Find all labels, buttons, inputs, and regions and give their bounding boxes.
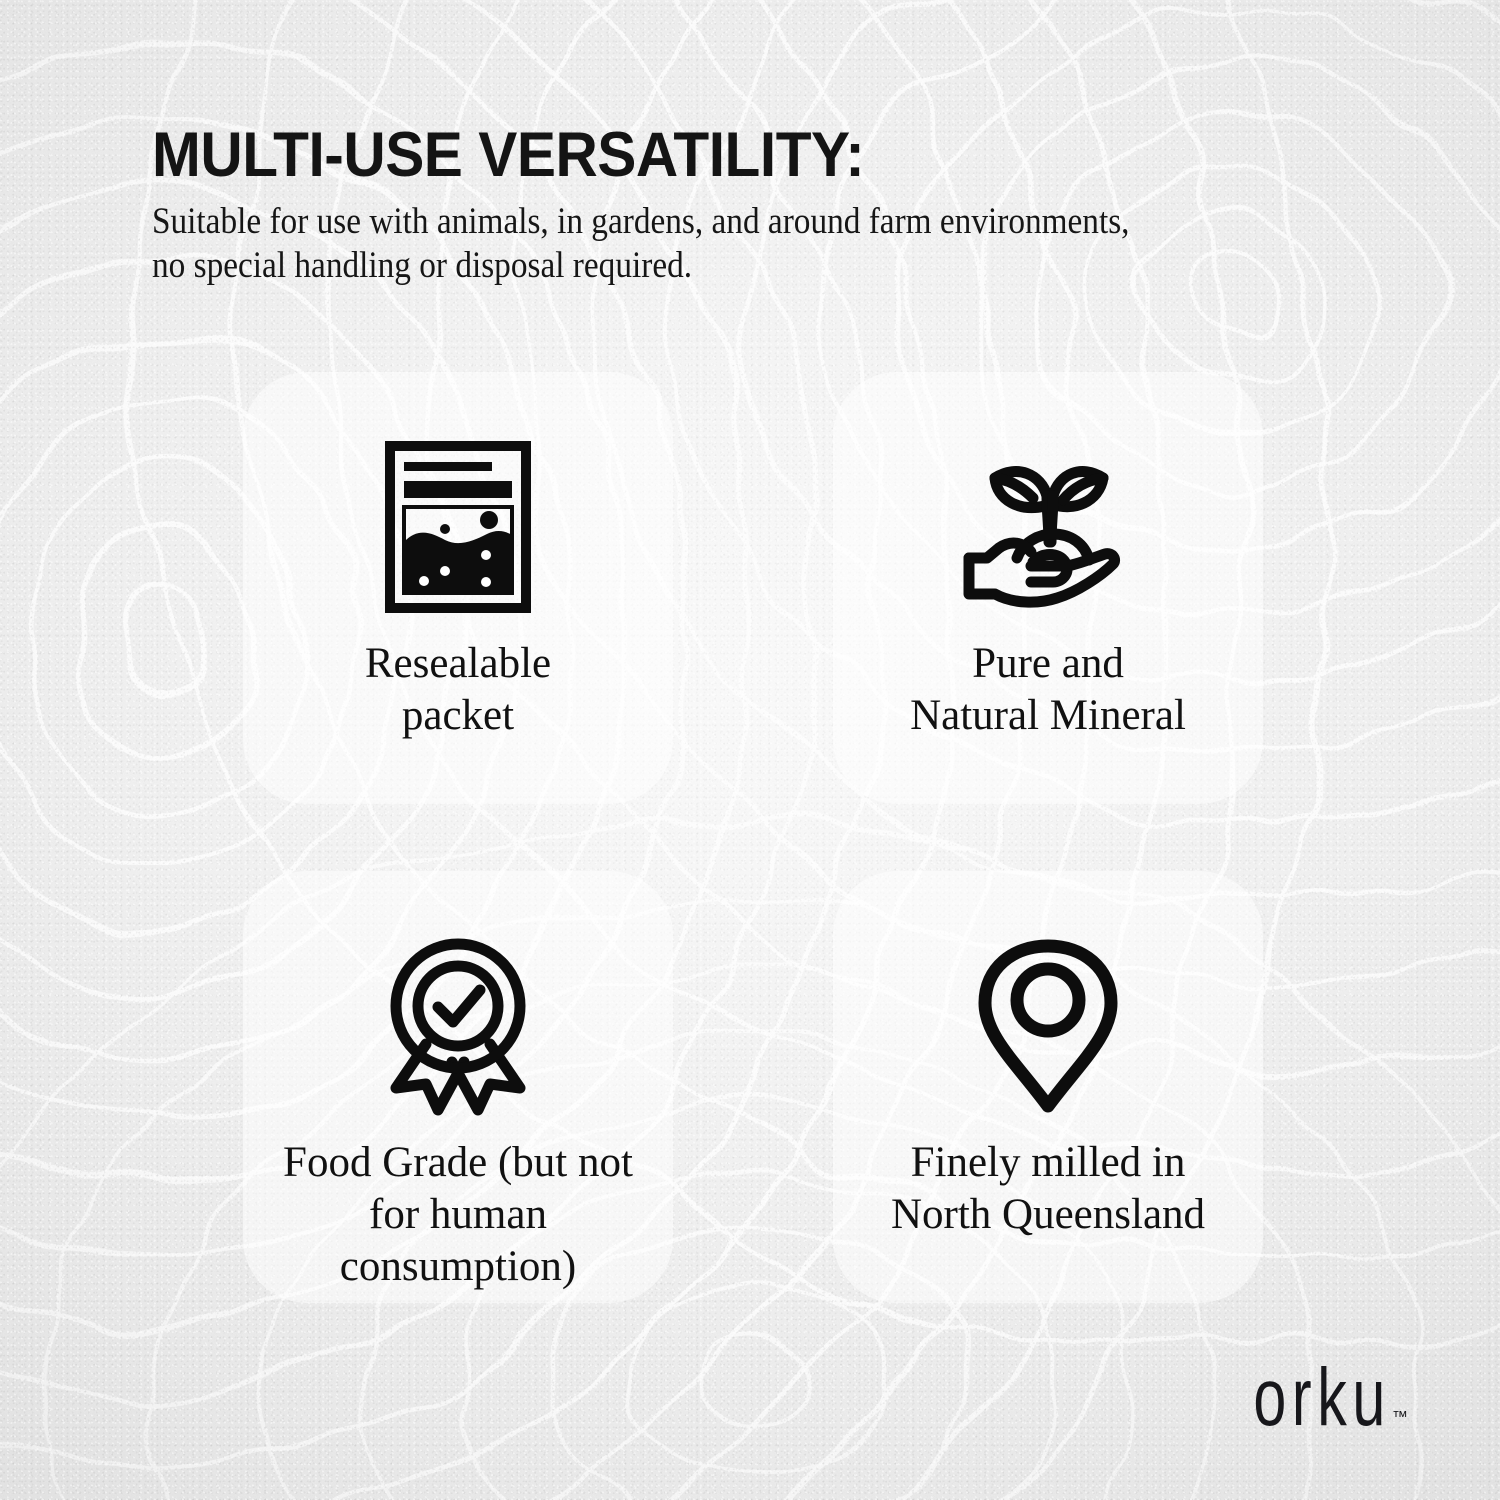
award-badge-check-icon — [380, 941, 536, 1111]
brand-logo: orku ™ — [1219, 1364, 1408, 1438]
resealable-packet-icon — [385, 442, 531, 612]
feature-card-food-grade: Food Grade (but not for human consumptio… — [243, 871, 673, 1303]
poster-canvas: MULTI-USE VERSATILITY: Suitable for use … — [0, 0, 1500, 1500]
trademark-symbol: ™ — [1392, 1410, 1408, 1426]
page-subtitle: Suitable for use with animals, in garden… — [152, 200, 1250, 288]
feature-card-finely-milled: Finely milled in North Queensland — [833, 871, 1263, 1303]
page-title: MULTI-USE VERSATILITY: — [152, 122, 1287, 188]
feature-label: Resealable packet — [355, 638, 561, 742]
sprout-in-hand-icon — [961, 442, 1135, 612]
feature-label: Pure and Natural Mineral — [900, 638, 1196, 742]
header: MULTI-USE VERSATILITY: Suitable for use … — [152, 122, 1372, 288]
feature-grid: Resealable packet — [243, 372, 1263, 1303]
feature-label: Food Grade (but not for human consumptio… — [273, 1137, 643, 1293]
brand-wordmark: orku — [1253, 1357, 1391, 1438]
feature-card-resealable-packet: Resealable packet — [243, 372, 673, 804]
feature-label: Finely milled in North Queensland — [881, 1137, 1215, 1241]
location-pin-icon — [977, 941, 1119, 1111]
feature-card-pure-natural-mineral: Pure and Natural Mineral — [833, 372, 1263, 804]
